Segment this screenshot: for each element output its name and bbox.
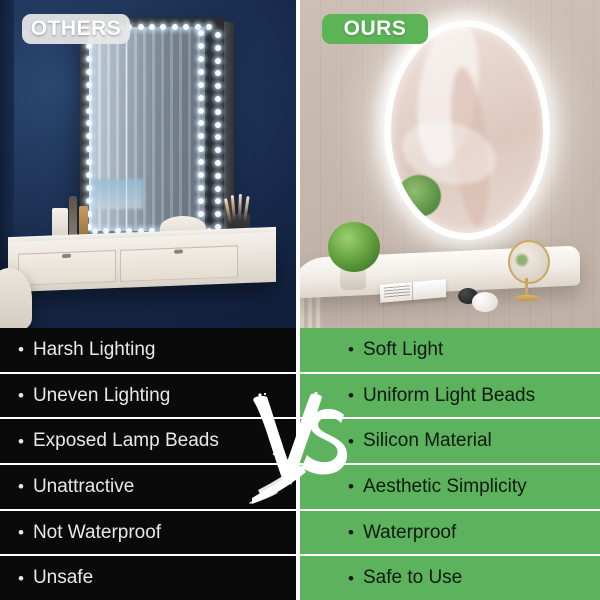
feature-label: Soft Light [363, 339, 443, 361]
lamp-bead-icon [86, 82, 92, 88]
ours-feature-list: • Soft Light • Uniform Light Beads • Sil… [300, 328, 600, 600]
lamp-bead-icon [215, 96, 221, 102]
feature-label: Aesthetic Simplicity [363, 476, 527, 498]
lamp-bead-icon [172, 24, 178, 30]
lamp-bead-icon [149, 24, 155, 30]
gold-vanity-mirror [506, 240, 546, 302]
bullet-icon: • [18, 524, 24, 541]
bullet-icon: • [348, 341, 354, 358]
lamp-bead-icon [198, 133, 204, 139]
others-photo [0, 0, 296, 328]
lamp-bead-icon [86, 95, 92, 101]
table-row: • Silicon Material [300, 419, 600, 465]
lamp-bead-icon [215, 83, 221, 89]
lamp-bead-icon [215, 186, 221, 192]
mirror-glass [89, 27, 205, 231]
bullet-icon: • [348, 387, 354, 404]
lamp-bead-icon [198, 172, 204, 178]
lamp-bead-icon [198, 82, 204, 88]
lamp-bead-icon [86, 185, 92, 191]
table-row: • Soft Light [300, 328, 600, 374]
topiary-plant [328, 222, 380, 272]
feature-label: Exposed Lamp Beads [33, 430, 219, 452]
makeup-brush [238, 194, 242, 220]
table-row: • Uniform Light Beads [300, 374, 600, 420]
feature-label: Harsh Lighting [33, 339, 156, 361]
lamp-bead-icon [198, 30, 204, 36]
vanity-mirror-glass [508, 240, 550, 284]
table-row: • Exposed Lamp Beads [0, 419, 296, 465]
exposed-lamp-beads-left [86, 30, 92, 230]
feature-label: Not Waterproof [33, 522, 161, 544]
drawer-knob-icon [174, 249, 183, 253]
feature-label: Unattractive [33, 476, 134, 498]
feature-label: Uneven Lighting [33, 385, 170, 407]
drawer-knob-icon [62, 254, 71, 258]
table-row: • Not Waterproof [0, 511, 296, 557]
lamp-bead-icon [215, 45, 221, 51]
lamp-bead-icon [198, 95, 204, 101]
lamp-bead-icon [198, 108, 204, 114]
feature-label: Silicon Material [363, 430, 492, 452]
lamp-bead-icon [198, 43, 204, 49]
lamp-bead-icon [198, 185, 204, 191]
table-row: • Aesthetic Simplicity [300, 465, 600, 511]
others-badge-label: OTHERS [31, 17, 122, 41]
lamp-bead-icon [198, 56, 204, 62]
lamp-bead-icon [86, 133, 92, 139]
lamp-bead-icon [198, 146, 204, 152]
ours-badge-label: OURS [344, 17, 407, 41]
lamp-bead-icon [206, 24, 212, 30]
cosmetic-jar [472, 292, 498, 312]
feature-label: Safe to Use [363, 567, 462, 589]
lamp-bead-icon [215, 160, 221, 166]
table-row: • Waterproof [300, 511, 600, 557]
lamp-bead-icon [86, 56, 92, 62]
lamp-bead-icon [215, 109, 221, 115]
feature-label: Uniform Light Beads [363, 385, 535, 407]
cosmetic-box [52, 208, 68, 238]
lamp-bead-icon [215, 32, 221, 38]
lamp-bead-icon [160, 24, 166, 30]
lamp-bead-icon [198, 198, 204, 204]
lamp-bead-icon [198, 211, 204, 217]
lamp-bead-icon [215, 58, 221, 64]
lamp-bead-icon [86, 108, 92, 114]
lamp-bead-icon [215, 198, 221, 204]
table-row: • Unattractive [0, 465, 296, 511]
lamp-bead-icon [215, 70, 221, 76]
comparison-table: • Harsh Lighting • Uneven Lighting • Exp… [0, 328, 600, 600]
comparison-infographic: OTHERS OURS • Harsh Lighting • Uneven Li… [0, 0, 600, 600]
lamp-bead-icon [86, 159, 92, 165]
lamp-bead-icon [183, 24, 189, 30]
lamp-bead-icon [215, 147, 221, 153]
table-row: • Safe to Use [300, 556, 600, 600]
vanity-mirror-base [514, 295, 540, 301]
others-badge: OTHERS [22, 14, 130, 44]
photo-comparison-area: OTHERS OURS [0, 0, 600, 328]
feature-label: Waterproof [363, 522, 456, 544]
bullet-icon: • [18, 387, 24, 404]
lamp-bead-icon [198, 159, 204, 165]
lamp-bead-icon [198, 120, 204, 126]
bullet-icon: • [18, 433, 24, 450]
table-row: • Harsh Lighting [0, 328, 296, 374]
lamp-bead-icon [86, 172, 92, 178]
bullet-icon: • [18, 341, 24, 358]
exposed-lamp-beads-right [215, 32, 221, 230]
mirror-glass-seam [126, 27, 127, 231]
book-text-lines [384, 285, 410, 298]
ours-badge: OURS [322, 14, 428, 44]
vanity-mirror-pole [525, 278, 528, 296]
white-floating-vanity [8, 232, 276, 292]
bullet-icon: • [348, 478, 354, 495]
plant-reflection [397, 175, 441, 217]
others-feature-list: • Harsh Lighting • Uneven Lighting • Exp… [0, 328, 296, 600]
lamp-bead-icon [86, 198, 92, 204]
table-row: • Uneven Lighting [0, 374, 296, 420]
lamp-bead-icon [198, 69, 204, 75]
lamp-bead-icon [86, 146, 92, 152]
table-row: • Unsafe [0, 556, 296, 600]
ours-photo [300, 0, 600, 328]
cosmetic-tube [69, 196, 77, 238]
lamp-bead-icon [86, 69, 92, 75]
bullet-icon: • [18, 478, 24, 495]
bullet-icon: • [18, 570, 24, 587]
bullet-icon: • [348, 524, 354, 541]
bullet-icon: • [348, 433, 354, 450]
lamp-bead-icon [138, 24, 144, 30]
lamp-bead-icon [215, 211, 221, 217]
bullet-icon: • [348, 570, 354, 587]
exposed-lamp-beads-inner [198, 30, 204, 230]
lamp-bead-icon [215, 134, 221, 140]
lamp-bead-icon [215, 173, 221, 179]
round-mirror [384, 20, 550, 240]
lamp-bead-icon [86, 120, 92, 126]
feature-label: Unsafe [33, 567, 93, 589]
rectangular-mirror [80, 18, 225, 240]
lamp-bead-icon [215, 122, 221, 128]
